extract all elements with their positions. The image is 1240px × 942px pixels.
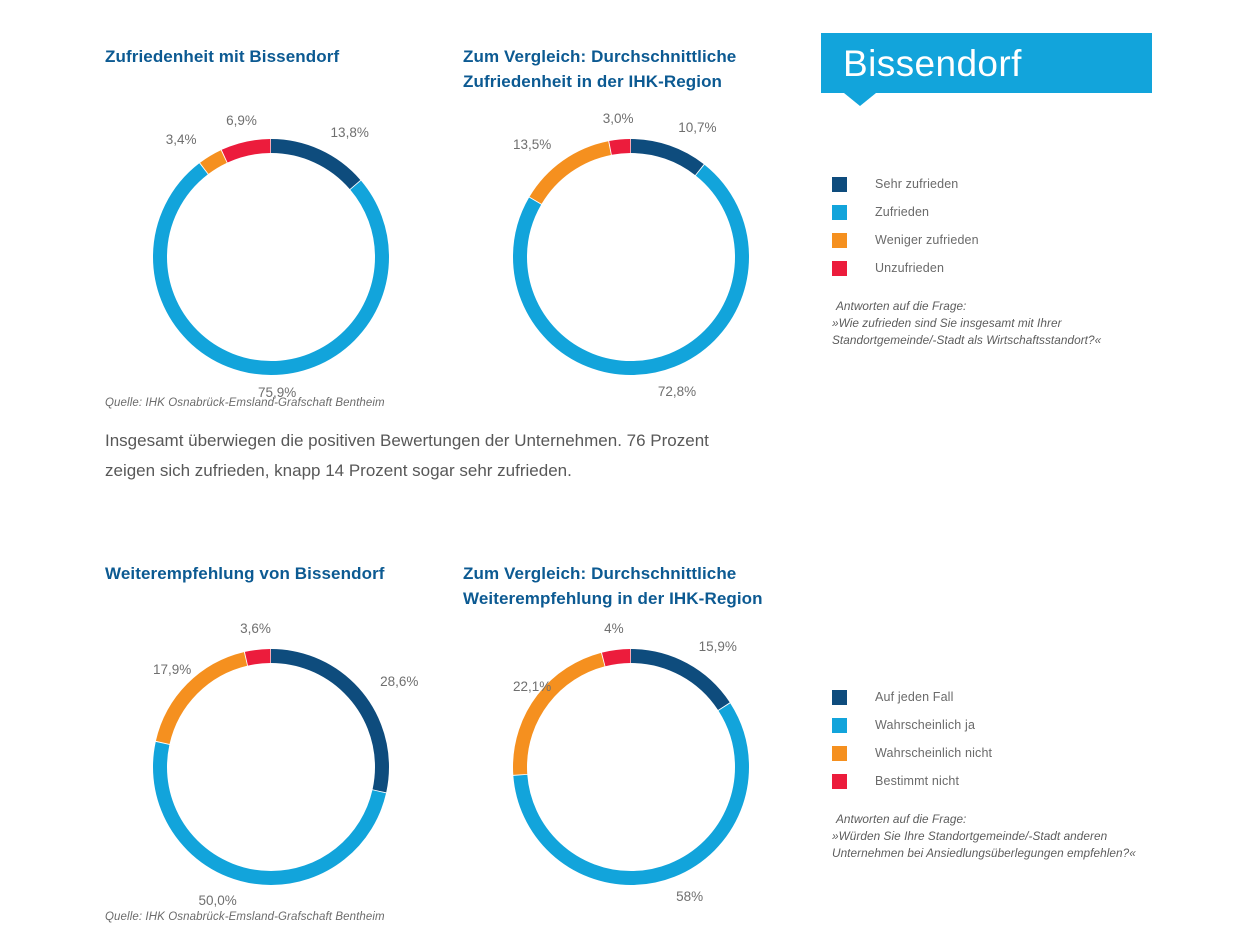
page-title-satisfaction-region: Zum Vergleich: Durchschnittliche Zufried…	[463, 44, 793, 94]
legend-color-swatch-icon	[832, 690, 847, 705]
legend-color-swatch-icon	[832, 177, 847, 192]
source-note-satisfaction: Quelle: IHK Osnabrück-Emsland-Grafschaft…	[105, 397, 385, 409]
donut-ring	[153, 139, 389, 375]
legend-item-label: Weniger zufrieden	[875, 233, 979, 247]
page-title-satisfaction-local: Zufriedenheit mit Bissendorf	[105, 44, 435, 69]
location-badge-label: Bissendorf	[821, 45, 1022, 82]
legend-question-note: Antworten auf die Frage:»Wie zufrieden s…	[832, 298, 1172, 349]
legend-color-swatch-icon	[832, 261, 847, 276]
legend-item[interactable]: Wahrscheinlich ja	[832, 711, 1172, 739]
legend-question-text: »Wie zufrieden sind Sie insgesamt mit Ih…	[832, 315, 1172, 349]
slice-percentage-label: 58%	[676, 889, 703, 904]
source-note-recommendation: Quelle: IHK Osnabrück-Emsland-Grafschaft…	[105, 911, 385, 923]
slice-percentage-label: 3,4%	[153, 132, 197, 147]
legend-item[interactable]: Wahrscheinlich nicht	[832, 739, 1172, 767]
legend-satisfaction: Sehr zufriedenZufriedenWeniger zufrieden…	[832, 170, 1172, 349]
legend-item[interactable]: Bestimmt nicht	[832, 767, 1172, 795]
legend-item[interactable]: Sehr zufrieden	[832, 170, 1172, 198]
legend-color-swatch-icon	[832, 233, 847, 248]
slice-percentage-label: 4%	[574, 621, 654, 636]
slice-percentage-label: 15,9%	[699, 639, 737, 654]
slice-percentage-label: 13,8%	[331, 125, 369, 140]
slice-percentage-label: 50,0%	[153, 893, 237, 908]
slice-percentage-label: 3,0%	[578, 111, 658, 126]
legend-color-swatch-icon	[832, 718, 847, 733]
legend-item-label: Sehr zufrieden	[875, 177, 958, 191]
legend-question-note: Antworten auf die Frage:»Würden Sie Ihre…	[832, 811, 1172, 862]
legend-color-swatch-icon	[832, 205, 847, 220]
donut-chart-recommendation-local: 28,6%50,0%17,9%3,6%	[153, 649, 389, 885]
legend-color-swatch-icon	[832, 746, 847, 761]
legend-item-label: Unzufrieden	[875, 261, 944, 275]
donut-chart-satisfaction-region: 10,7%72,8%13,5%3,0%	[513, 139, 749, 375]
legend-item-label: Wahrscheinlich ja	[875, 718, 975, 732]
slice-percentage-label: 17,9%	[153, 662, 170, 677]
slice-percentage-label: 13,5%	[513, 137, 548, 152]
donut-ring	[513, 139, 749, 375]
legend-question-text: »Würden Sie Ihre Standortgemeinde/-Stadt…	[832, 828, 1172, 862]
legend-item-label: Bestimmt nicht	[875, 774, 959, 788]
donut-chart-satisfaction-local: 13,8%75,9%3,4%6,9%	[153, 139, 389, 375]
donut-chart-recommendation-region: 15,9%58%22,1%4%	[513, 649, 749, 885]
slice-percentage-label: 6,9%	[202, 113, 282, 128]
location-badge-tail-icon	[844, 93, 876, 106]
page-title-recommendation-local: Weiterempfehlung von Bissendorf	[105, 561, 435, 586]
legend-item[interactable]: Zufrieden	[832, 198, 1172, 226]
legend-item[interactable]: Unzufrieden	[832, 254, 1172, 282]
slice-percentage-label: 22,1%	[513, 679, 516, 694]
legend-recommendation: Auf jeden FallWahrscheinlich jaWahrschei…	[832, 683, 1172, 862]
legend-color-swatch-icon	[832, 774, 847, 789]
legend-item[interactable]: Weniger zufrieden	[832, 226, 1172, 254]
legend-question-intro: Antworten auf die Frage:	[832, 811, 1172, 828]
slice-percentage-label: 72,8%	[658, 384, 696, 399]
legend-item[interactable]: Auf jeden Fall	[832, 683, 1172, 711]
page-title-recommendation-region: Zum Vergleich: Durchschnittliche Weitere…	[463, 561, 803, 611]
slice-percentage-label: 28,6%	[380, 674, 418, 689]
donut-ring	[153, 649, 389, 885]
slice-percentage-label: 10,7%	[678, 120, 716, 135]
location-badge: Bissendorf	[821, 33, 1152, 93]
legend-item-label: Auf jeden Fall	[875, 690, 954, 704]
body-text-satisfaction: Insgesamt überwiegen die positiven Bewer…	[105, 426, 795, 486]
legend-question-intro: Antworten auf die Frage:	[832, 298, 1172, 315]
legend-item-label: Wahrscheinlich nicht	[875, 746, 992, 760]
slice-percentage-label: 3,6%	[216, 621, 296, 636]
infographic-page: Zufriedenheit mit Bissendorf Zum Verglei…	[0, 0, 1240, 942]
legend-item-label: Zufrieden	[875, 205, 929, 219]
